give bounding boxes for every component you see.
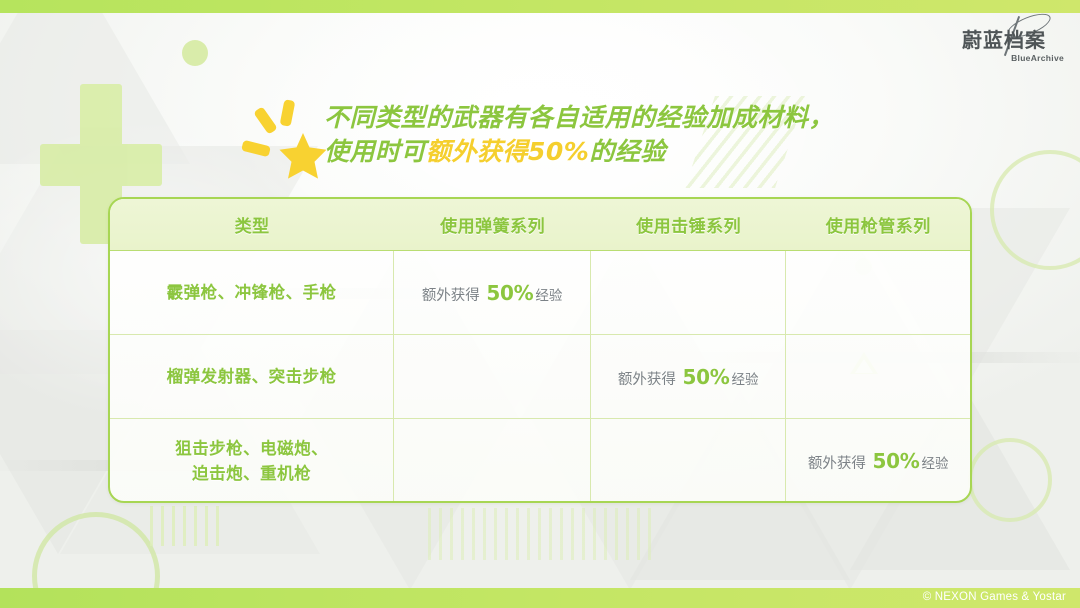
bonus-percent <box>490 449 494 473</box>
bonus-percent: 50% <box>871 449 922 473</box>
copyright-text: © NEXON Games & Yostar <box>923 591 1066 603</box>
bonus-value <box>686 449 690 473</box>
column-header-spring: 使用弹簧系列 <box>394 199 591 250</box>
cell-barrel: 额外获得 50%经验 <box>786 419 970 503</box>
bonus-prefix: 额外获得 <box>618 372 681 388</box>
decor-ring <box>968 438 1052 522</box>
bonus-prefix: 额外获得 <box>808 456 871 472</box>
bonus-suffix: 经验 <box>535 288 562 304</box>
headline-line-2: 使用时可额外获得50%的经验 <box>324 135 944 169</box>
bonus-value <box>876 365 880 389</box>
bonus-percent: 50% <box>680 365 731 389</box>
weapon-type-label: 霰弹枪、冲锋枪、手枪 <box>167 280 337 305</box>
cell-barrel <box>786 251 970 334</box>
top-accent-bar <box>0 0 1080 13</box>
cell-spring <box>394 419 591 503</box>
cell-type: 霰弹枪、冲锋枪、手枪 <box>110 251 394 334</box>
headline-line2-suffix: 的经验 <box>589 137 666 166</box>
star-shape <box>278 133 328 181</box>
cell-spring <box>394 335 591 418</box>
logo-title-en: BlueArchive <box>1011 53 1064 63</box>
weapon-type-line2: 迫击炮、重机枪 <box>175 461 328 486</box>
cell-type: 榴弹发射器、突击步枪 <box>110 335 394 418</box>
bonus-percent <box>876 281 880 305</box>
star-sparkle-icon <box>238 97 334 183</box>
bonus-value: 额外获得 50%经验 <box>422 281 563 305</box>
table-row: 狙击步枪、电磁炮、 迫击炮、重机枪 额外获得 50%经验 <box>110 419 970 503</box>
headline-highlight: 额外获得50% <box>426 137 589 166</box>
cell-spring: 额外获得 50%经验 <box>394 251 591 334</box>
table-header-row: 类型 使用弹簧系列 使用击锤系列 使用枪管系列 <box>110 199 970 251</box>
decor-vbars <box>428 508 658 560</box>
weapon-type-line1: 狙击步枪、电磁炮、 <box>175 436 328 461</box>
column-header-type: 类型 <box>110 199 394 250</box>
bonus-value: 额外获得 50%经验 <box>618 365 759 389</box>
bonus-suffix: 经验 <box>922 456 949 472</box>
brand-logo: 蔚蓝档案 BlueArchive <box>962 22 1066 62</box>
bonus-value <box>876 281 880 305</box>
bonus-percent <box>876 365 880 389</box>
bonus-suffix: 经验 <box>731 372 758 388</box>
column-header-barrel: 使用枪管系列 <box>786 199 970 250</box>
logo-title-cn: 蔚蓝档案 <box>962 24 1046 53</box>
bonus-percent: 50% <box>484 281 535 305</box>
column-header-hammer: 使用击锤系列 <box>591 199 787 250</box>
bonus-value: 额外获得 50%经验 <box>808 449 949 473</box>
decor-vbars <box>150 506 220 546</box>
weapon-bonus-table: 类型 使用弹簧系列 使用击锤系列 使用枪管系列 霰弹枪、冲锋枪、手枪 额外获得 … <box>108 197 972 503</box>
weapon-type-line1: 霰弹枪、冲锋枪、手枪 <box>167 280 337 305</box>
table-row: 霰弹枪、冲锋枪、手枪 额外获得 50%经验 <box>110 251 970 335</box>
bonus-value <box>686 281 690 305</box>
bonus-value <box>490 365 494 389</box>
cell-type: 狙击步枪、电磁炮、 迫击炮、重机枪 <box>110 419 394 503</box>
headline-line-1: 不同类型的武器有各自适用的经验加成材料， <box>324 103 834 132</box>
bottom-accent-bar: © NEXON Games & Yostar <box>0 588 1080 608</box>
bonus-percent <box>490 365 494 389</box>
headline-line2-prefix: 使用时可 <box>324 137 426 166</box>
bonus-percent <box>686 449 690 473</box>
sparkle-ray <box>280 99 296 127</box>
table-row: 榴弹发射器、突击步枪 额外获得 50%经验 <box>110 335 970 419</box>
cell-hammer <box>591 419 787 503</box>
page-title: 不同类型的武器有各自适用的经验加成材料， 使用时可额外获得50%的经验 <box>324 101 944 169</box>
decor-dot <box>182 40 208 66</box>
cell-hammer: 额外获得 50%经验 <box>591 335 787 418</box>
weapon-type-label: 榴弹发射器、突击步枪 <box>167 364 337 389</box>
cell-hammer <box>591 251 787 334</box>
weapon-type-line1: 榴弹发射器、突击步枪 <box>167 364 337 389</box>
bonus-value <box>490 449 494 473</box>
weapon-type-label: 狙击步枪、电磁炮、 迫击炮、重机枪 <box>175 436 328 486</box>
bonus-prefix: 额外获得 <box>422 288 485 304</box>
cell-barrel <box>786 335 970 418</box>
slide-canvas: © NEXON Games & Yostar 蔚蓝档案 BlueArchive … <box>0 0 1080 608</box>
sparkle-ray <box>253 106 277 134</box>
bonus-percent <box>686 281 690 305</box>
sparkle-ray <box>241 140 271 157</box>
